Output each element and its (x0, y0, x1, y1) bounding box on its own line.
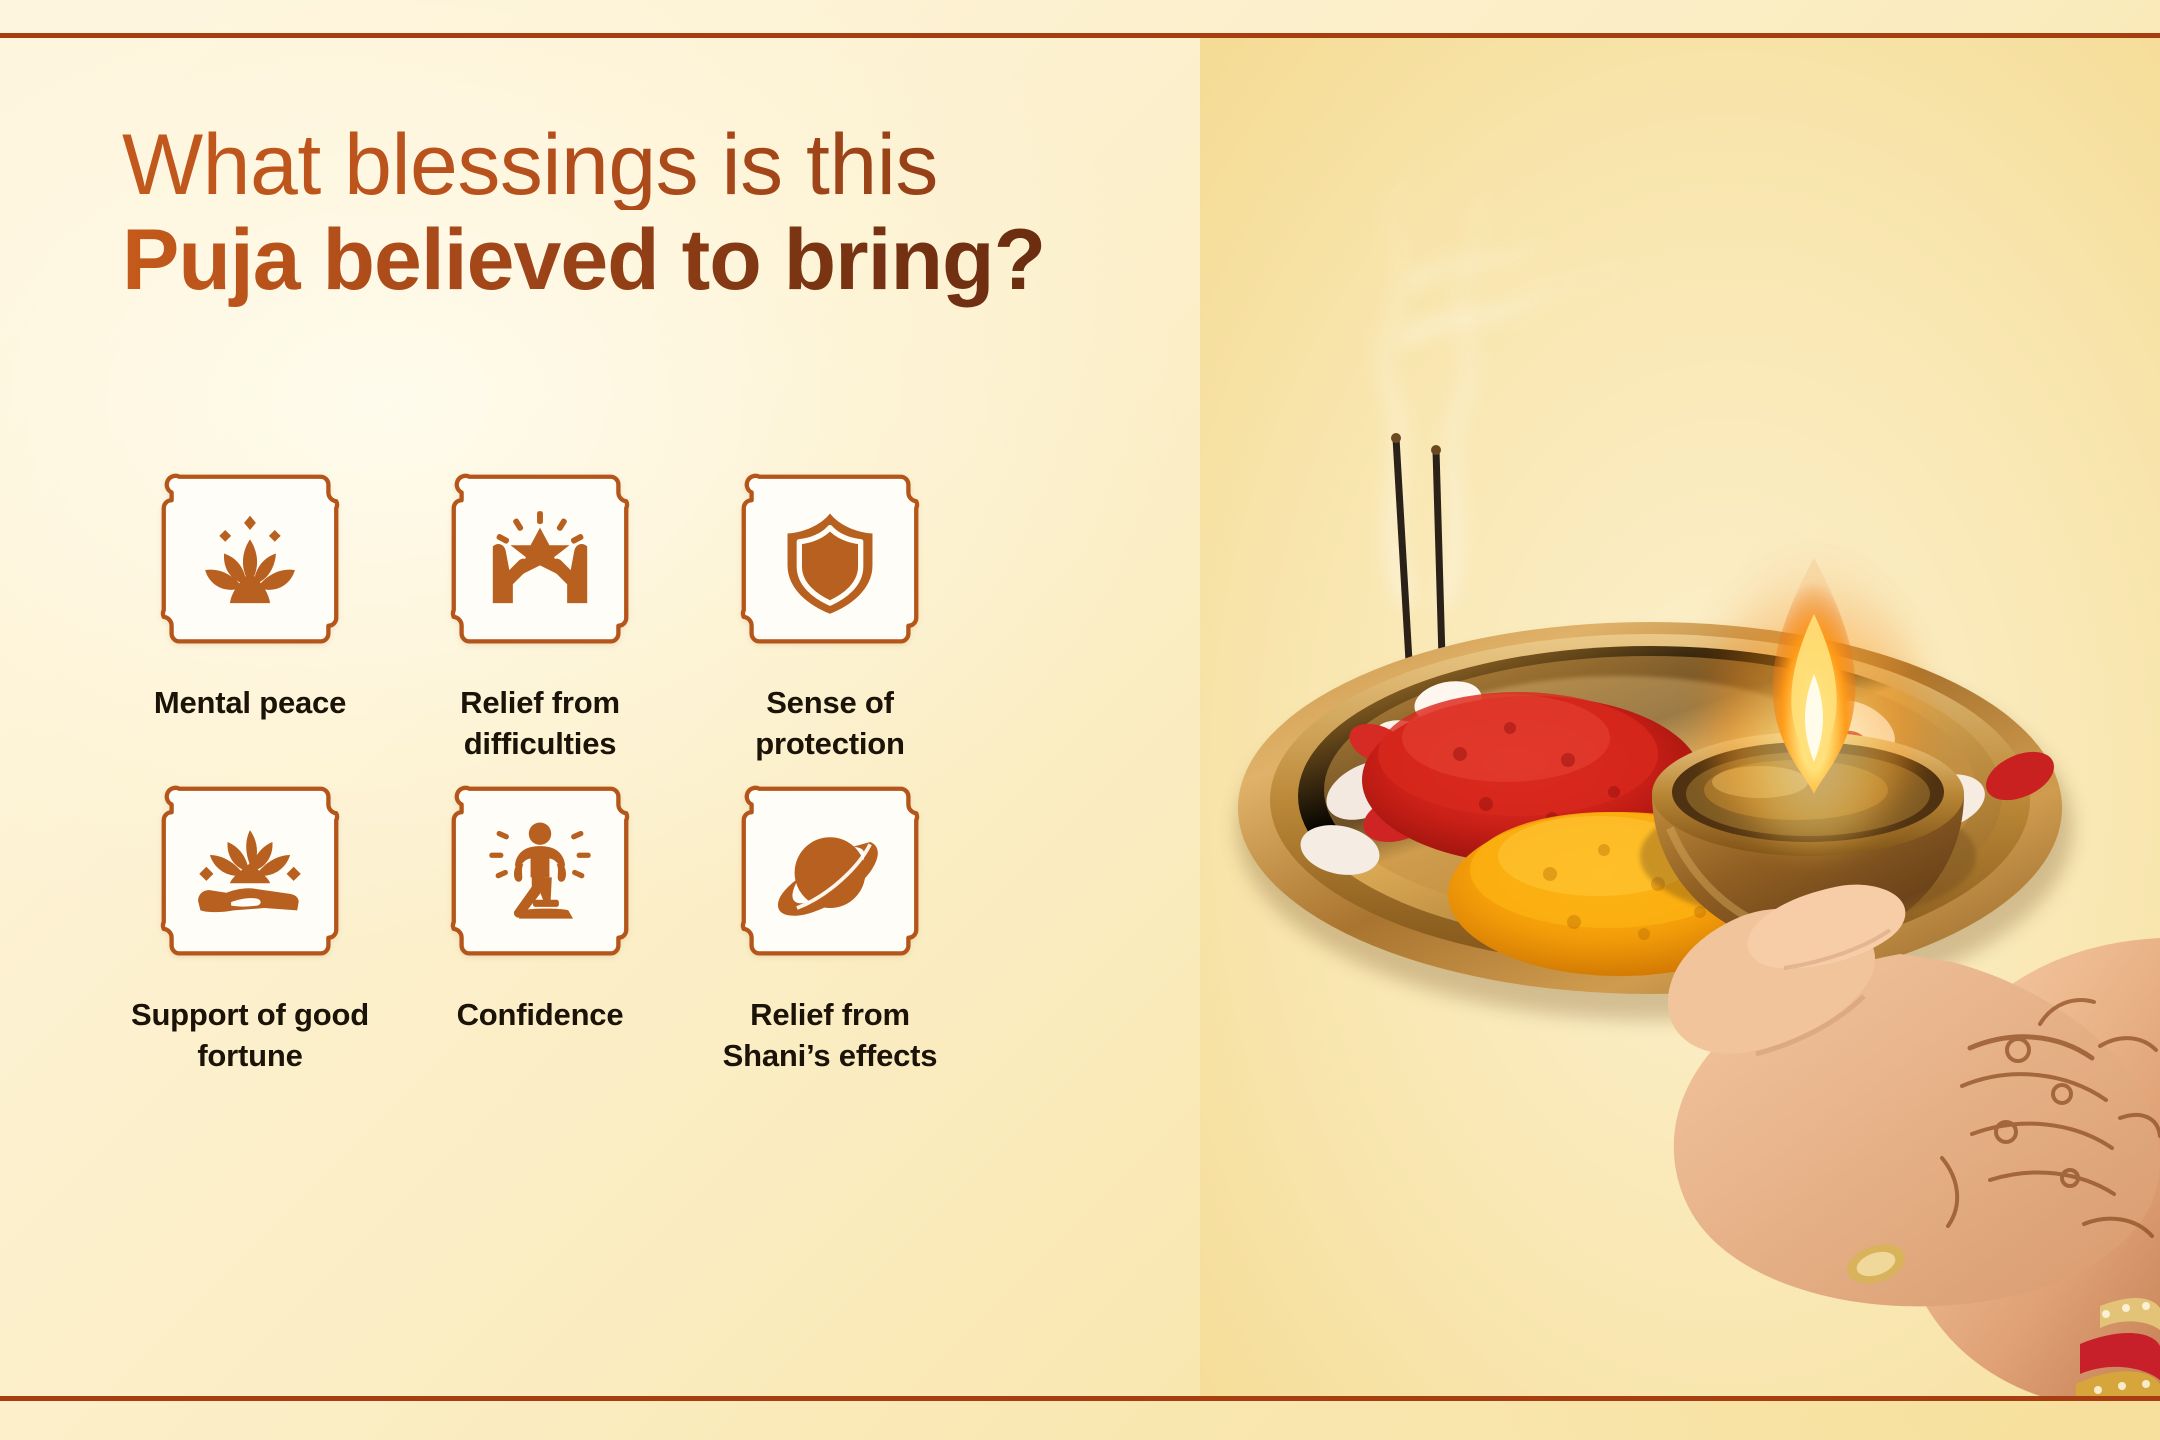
puja-thali-photo (1200, 38, 2160, 1396)
bottom-rule (0, 1396, 2160, 1401)
icon-card (442, 465, 638, 661)
heading-line-2: Puja believed to bring? (122, 210, 1045, 311)
benefit-label: Confidence (457, 995, 624, 1036)
benefit-label: Mental peace (154, 683, 346, 724)
benefits-grid: Mental peace (105, 465, 1185, 1077)
shield-icon (771, 504, 889, 622)
lotus-icon (191, 504, 309, 622)
benefit-item-relief-from-shani-effects: Relief from Shani’s effects (685, 777, 975, 1077)
icon-card (442, 777, 638, 973)
confident-person-icon (481, 816, 599, 934)
saturn-planet-icon (771, 816, 889, 934)
heading-line-1: What blessings is this (122, 122, 1045, 210)
benefit-item-sense-of-protection: Sense of protection (685, 465, 975, 765)
benefit-item-relief-from-difficulties: Relief from difficulties (395, 465, 685, 765)
icon-card (152, 777, 348, 973)
page-title: What blessings is this Puja believed to … (122, 122, 1045, 311)
benefit-label: Support of good fortune (118, 995, 383, 1077)
benefit-item-confidence: Confidence (395, 777, 685, 1077)
top-rule (0, 33, 2160, 38)
icon-card (732, 465, 928, 661)
poster-root: What blessings is this Puja believed to … (0, 0, 2160, 1440)
benefit-label: Sense of protection (698, 683, 963, 765)
hand-with-lotus-icon (191, 816, 309, 934)
benefit-item-support-of-good-fortune: Support of good fortune (105, 777, 395, 1077)
hands-holding-star-icon (481, 504, 599, 622)
benefit-item-mental-peace: Mental peace (105, 465, 395, 765)
benefit-label: Relief from difficulties (408, 683, 673, 765)
benefit-label: Relief from Shani’s effects (698, 995, 963, 1077)
icon-card (152, 465, 348, 661)
icon-card (732, 777, 928, 973)
